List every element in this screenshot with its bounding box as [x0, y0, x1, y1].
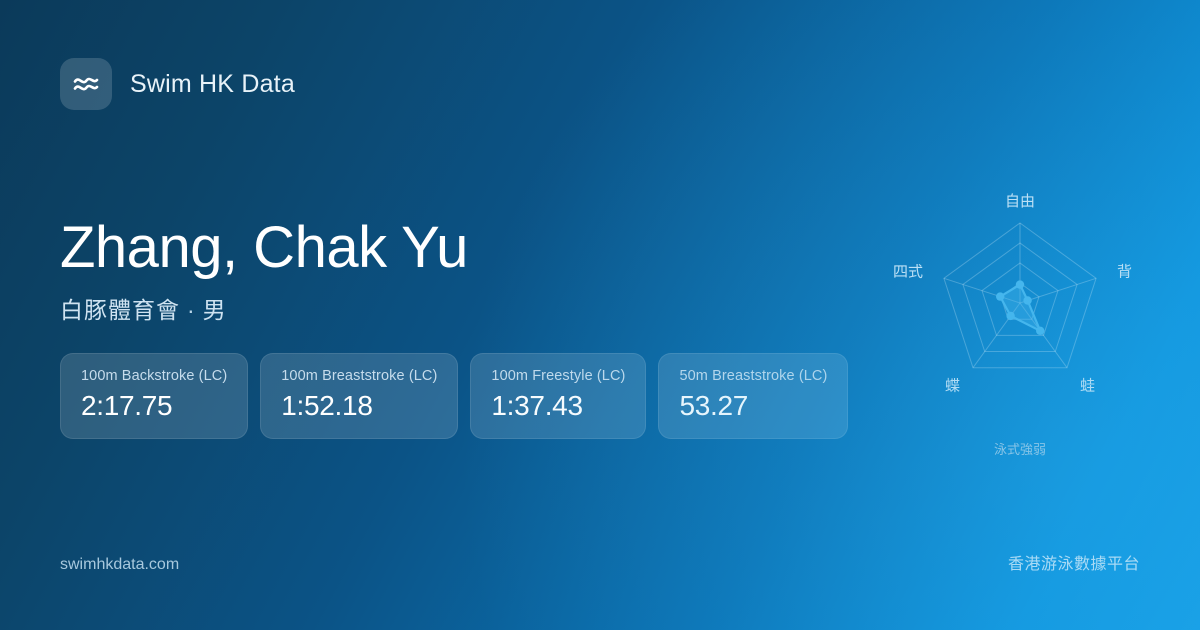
radar-series-area	[1000, 285, 1040, 331]
stat-card-list: 100m Backstroke (LC) 2:17.75 100m Breast…	[60, 353, 848, 439]
stat-event-name: 100m Backstroke	[81, 368, 195, 384]
stat-time-value: 1:52.18	[281, 390, 437, 422]
brand-header: Swim HK Data	[60, 58, 295, 110]
stat-course-badge: (LC)	[799, 368, 828, 384]
share-card: Swim HK Data Zhang, Chak Yu 白豚體育會·男 100m…	[0, 0, 1200, 630]
stat-event-name: 100m Freestyle	[491, 368, 592, 384]
headline-block: Zhang, Chak Yu 白豚體育會·男	[60, 218, 468, 325]
stat-course-badge: (LC)	[199, 368, 228, 384]
stat-course-badge: (LC)	[409, 368, 438, 384]
stat-event-label: 100m Freestyle (LC)	[491, 368, 625, 384]
stat-event-name: 100m Breaststroke	[281, 368, 404, 384]
athlete-club: 白豚體育會	[60, 297, 180, 323]
stat-event-name: 50m Breaststroke	[679, 368, 794, 384]
stroke-radar-chart: 自由背蛙蝶四式 泳式強弱	[860, 160, 1180, 480]
radar-caption: 泳式強弱	[994, 442, 1046, 457]
radar-point	[1006, 312, 1014, 320]
brand-name: Swim HK Data	[130, 70, 295, 99]
stat-card: 100m Freestyle (LC) 1:37.43	[470, 353, 646, 439]
radar-axis-label: 背	[1117, 264, 1132, 281]
radar-axis-label: 蛙	[1080, 378, 1095, 395]
radar-point	[1036, 327, 1044, 335]
stat-card: 100m Backstroke (LC) 2:17.75	[60, 353, 248, 439]
stat-time-value: 53.27	[679, 390, 827, 422]
radar-axis-label: 自由	[1005, 193, 1035, 210]
footer-tagline: 香港游泳數據平台	[1008, 550, 1140, 574]
page-title: Zhang, Chak Yu	[60, 218, 468, 279]
footer-site-url: swimhkdata.com	[60, 556, 179, 574]
stat-card: 50m Breaststroke (LC) 53.27	[658, 353, 848, 439]
radar-point	[1023, 296, 1031, 304]
athlete-gender: 男	[203, 297, 227, 323]
radar-point	[1016, 280, 1024, 288]
radar-axis-label: 蝶	[945, 378, 960, 395]
stat-event-label: 100m Backstroke (LC)	[81, 368, 227, 384]
radar-axis-label: 四式	[893, 264, 923, 281]
stat-card: 100m Breaststroke (LC) 1:52.18	[260, 353, 458, 439]
stat-event-label: 50m Breaststroke (LC)	[679, 368, 827, 384]
athlete-meta: 白豚體育會·男	[60, 291, 468, 325]
stat-event-label: 100m Breaststroke (LC)	[281, 368, 437, 384]
radar-point	[996, 292, 1004, 300]
stat-course-badge: (LC)	[597, 368, 626, 384]
meta-separator: ·	[187, 297, 196, 324]
wave-icon	[60, 58, 112, 110]
stat-time-value: 1:37.43	[491, 390, 625, 422]
stat-time-value: 2:17.75	[81, 390, 227, 422]
